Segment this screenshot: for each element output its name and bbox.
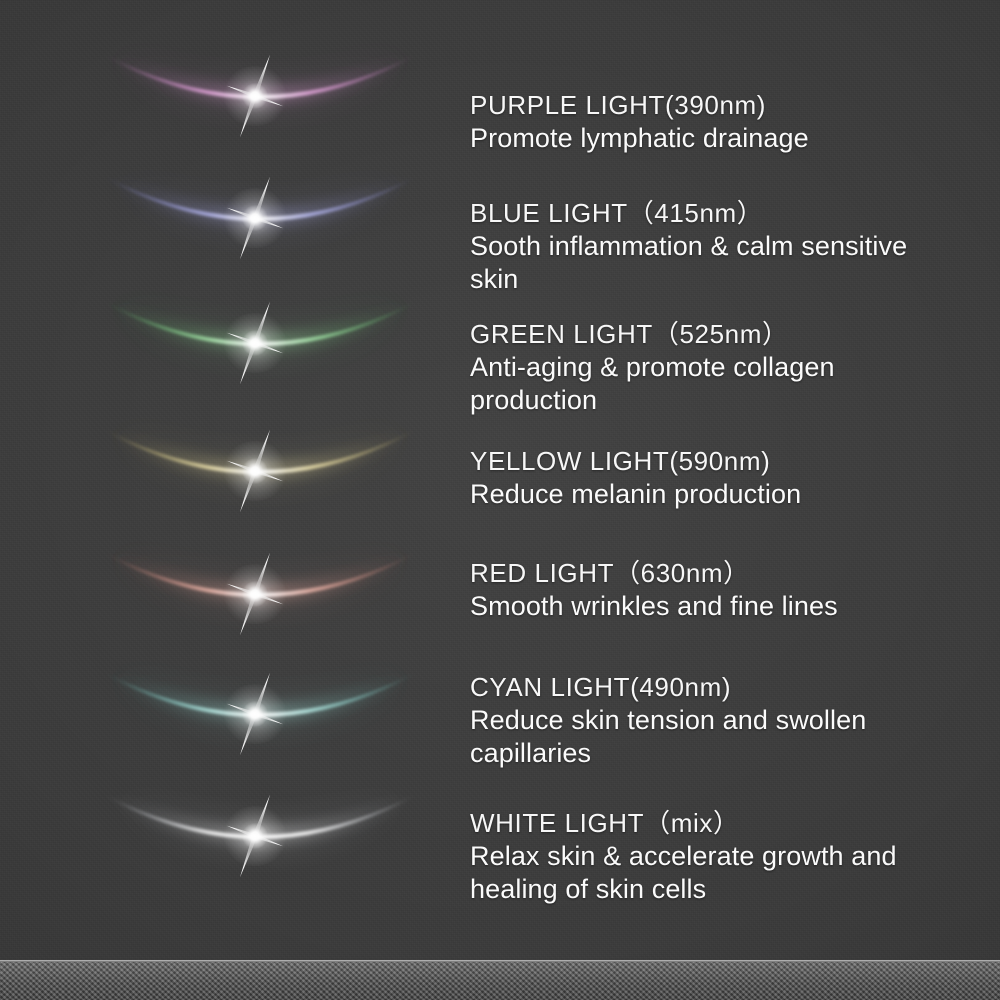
sparkle-core [242,701,268,727]
light-description-green: Anti-aging & promote collagen production [470,351,940,417]
sparkle-core [242,581,268,607]
light-description-yellow: Reduce melanin production [470,478,801,511]
light-description-cyan: Reduce skin tension and swollen capillar… [470,704,940,770]
light-beam-icon [95,162,425,274]
sparkle-core [242,205,268,231]
sparkle-core [242,458,268,484]
light-beam-icon [95,287,425,399]
light-text-block-purple: PURPLE LIGHT(390nm)Promote lymphatic dra… [470,88,809,155]
light-text-block-cyan: CYAN LIGHT(490nm)Reduce skin tension and… [470,670,940,770]
light-description-blue: Sooth inflammation & calm sensitive skin [470,230,940,296]
light-text-block-green: GREEN LIGHT（525nm）Anti-aging & promote c… [470,317,940,417]
sparkle-core [242,83,268,109]
light-beam-icon [95,40,425,152]
sparkle-halo [221,684,289,744]
bottom-texture-strip [0,962,1000,1000]
light-therapy-poster: PURPLE LIGHT(390nm)Promote lymphatic dra… [0,0,1000,1000]
sparkle-halo [221,806,289,866]
light-title-red: RED LIGHT（630nm） [470,556,838,590]
light-title-yellow: YELLOW LIGHT(590nm) [470,444,801,478]
sparkle-halo [221,188,289,248]
light-description-purple: Promote lymphatic drainage [470,122,809,155]
light-beam-icon [95,415,425,527]
light-title-cyan: CYAN LIGHT(490nm) [470,670,940,704]
light-text-block-yellow: YELLOW LIGHT(590nm)Reduce melanin produc… [470,444,801,511]
light-beam-icon [95,780,425,892]
light-text-block-white: WHITE LIGHT（mix）Relax skin & accelerate … [470,806,940,906]
light-title-blue: BLUE LIGHT（415nm） [470,196,940,230]
light-beam-icon [95,538,425,650]
light-description-red: Smooth wrinkles and fine lines [470,590,838,623]
light-beam-icon [95,658,425,770]
light-description-white: Relax skin & accelerate growth and heali… [470,840,940,906]
light-title-purple: PURPLE LIGHT(390nm) [470,88,809,122]
sparkle-halo [221,441,289,501]
light-text-block-red: RED LIGHT（630nm）Smooth wrinkles and fine… [470,556,838,623]
sparkle-halo [221,313,289,373]
sparkle-halo [221,564,289,624]
light-title-green: GREEN LIGHT（525nm） [470,317,940,351]
light-text-block-blue: BLUE LIGHT（415nm）Sooth inflammation & ca… [470,196,940,296]
sparkle-core [242,330,268,356]
light-title-white: WHITE LIGHT（mix） [470,806,940,840]
sparkle-core [242,823,268,849]
sparkle-halo [221,66,289,126]
